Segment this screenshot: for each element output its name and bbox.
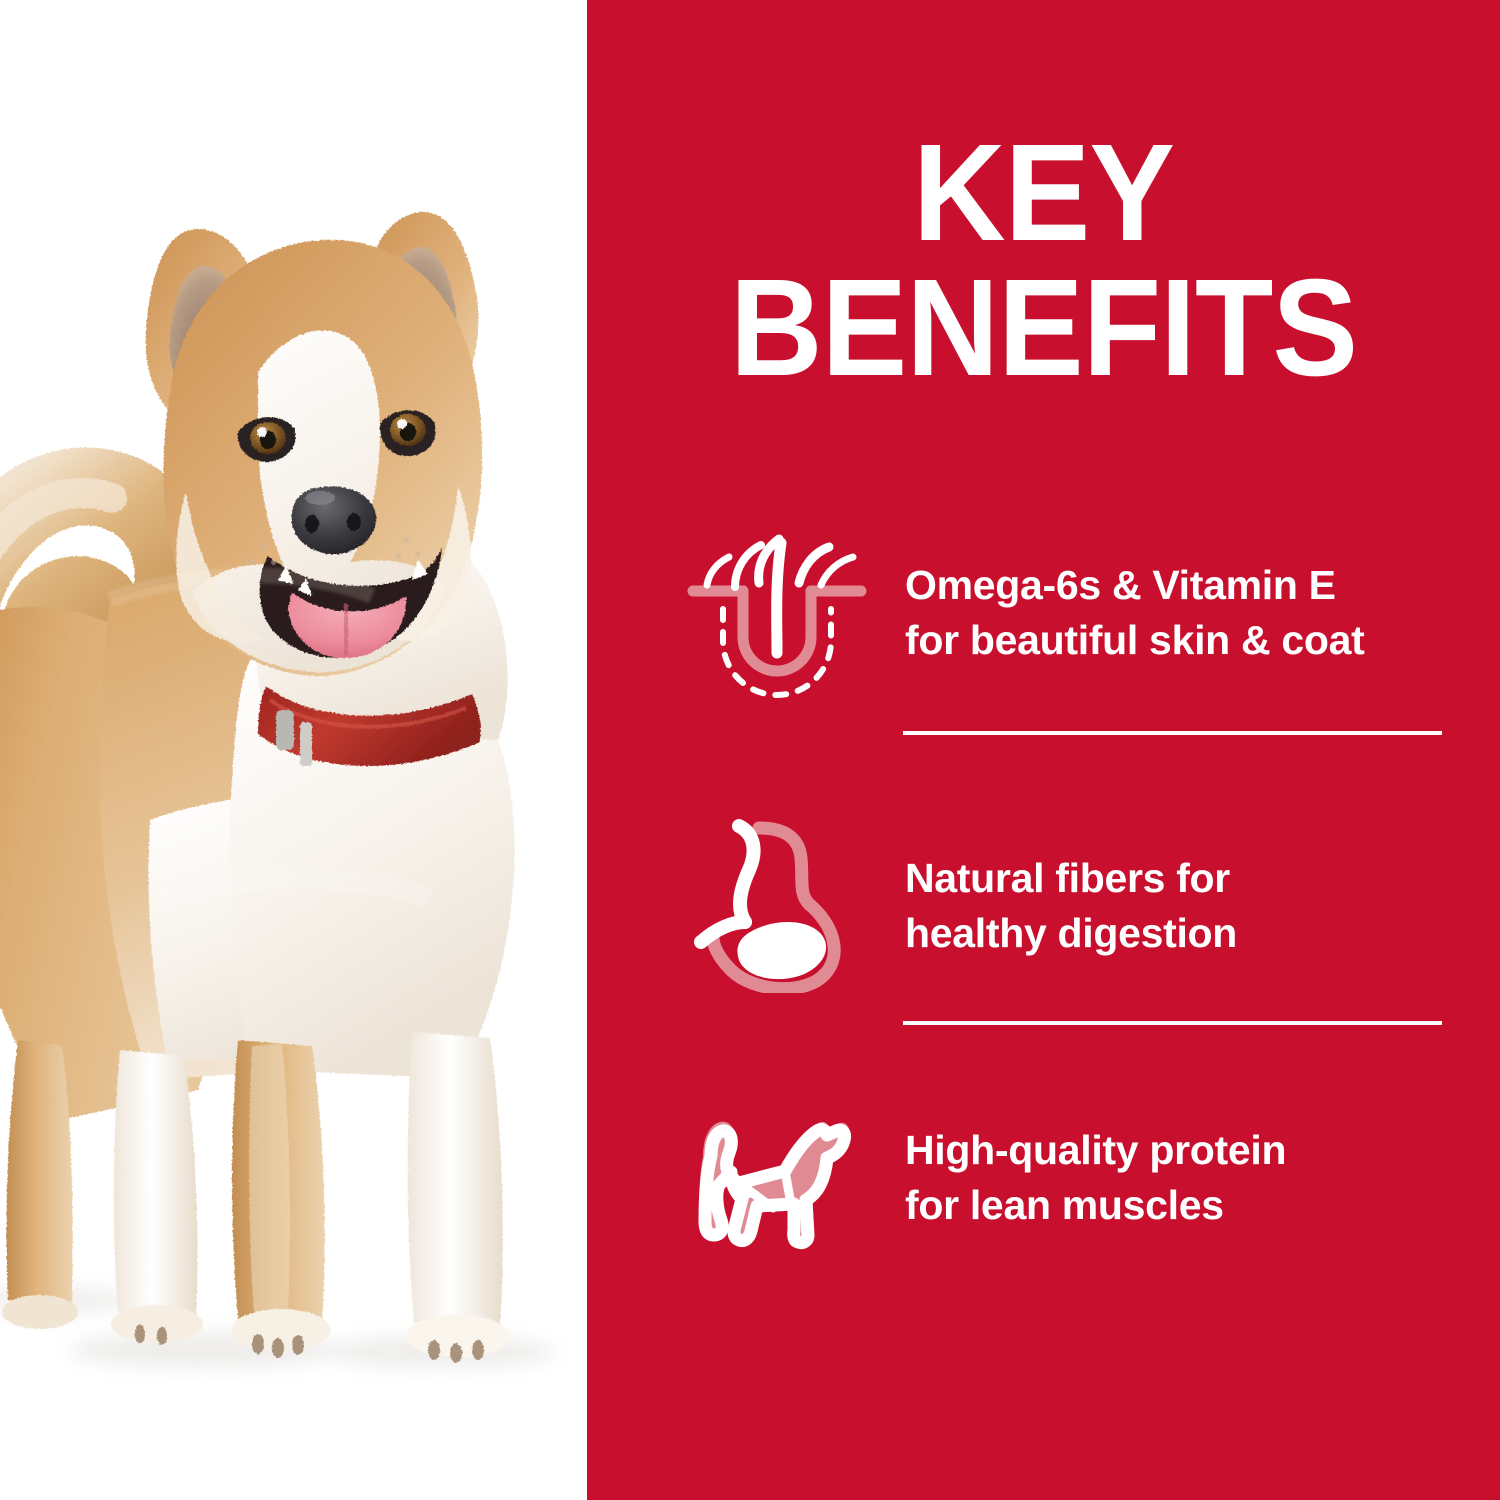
benefit-line-1: Natural fibers for — [905, 851, 1457, 905]
benefit-item-digestion: Natural fibers for healthy digestion — [687, 818, 1457, 993]
benefit-line-2: for lean muscles — [905, 1178, 1457, 1232]
divider-2 — [903, 1021, 1442, 1025]
dog-muscle-icon — [687, 1090, 867, 1265]
stomach-icon — [687, 818, 867, 993]
key-benefits-card: KEY BENEFITS — [0, 0, 1500, 1500]
benefit-item-protein: High-quality protein for lean muscles — [687, 1090, 1457, 1265]
benefit-line-1: High-quality protein — [905, 1123, 1457, 1177]
benefit-line-2: for beautiful skin & coat — [905, 613, 1457, 667]
hair-follicle-icon — [687, 525, 867, 700]
dog-photo-panel — [0, 0, 587, 1500]
dog-paw-hind-near — [111, 1305, 203, 1343]
dog-paw-hind-far — [2, 1295, 78, 1329]
title-line-key: KEY — [619, 128, 1468, 259]
benefit-text-digestion: Natural fibers for healthy digestion — [867, 851, 1457, 959]
title-line-benefits: BENEFITS — [619, 263, 1468, 394]
benefit-line-2: healthy digestion — [905, 906, 1457, 960]
shiba-inu-dog-photo — [0, 0, 587, 1500]
collar-ring — [300, 722, 312, 766]
collar-buckle — [276, 710, 294, 750]
divider-1 — [903, 731, 1442, 735]
dog-front-leg-right — [408, 1032, 503, 1326]
dog-hind-leg-far — [6, 1040, 72, 1306]
benefit-line-1: Omega-6s & Vitamin E — [905, 558, 1457, 612]
benefits-panel: KEY BENEFITS — [587, 0, 1500, 1500]
dog-hind-leg-near — [114, 1050, 198, 1316]
benefit-text-skin-coat: Omega-6s & Vitamin E for beautiful skin … — [867, 558, 1457, 666]
benefit-text-protein: High-quality protein for lean muscles — [867, 1123, 1457, 1231]
page-title: KEY BENEFITS — [587, 128, 1500, 394]
benefit-item-skin-coat: Omega-6s & Vitamin E for beautiful skin … — [687, 525, 1457, 700]
